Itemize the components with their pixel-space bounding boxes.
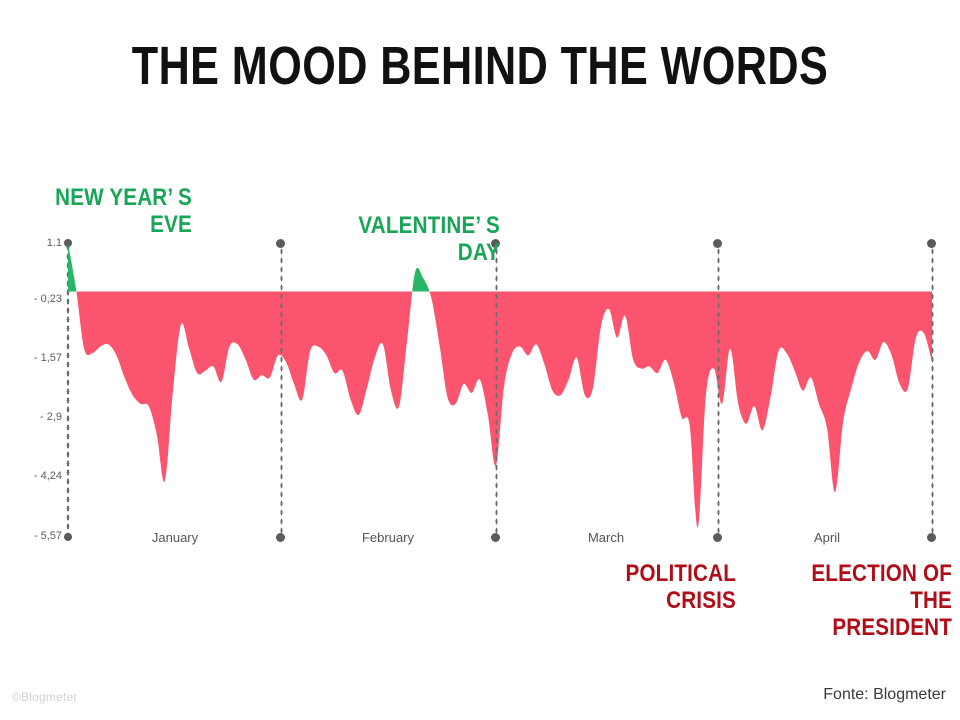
month-divider-end-bottom-dot — [927, 533, 936, 542]
y-tick-label-1: - 0,23 — [6, 293, 62, 305]
sentiment-area-chart — [68, 243, 932, 537]
month-divider-jan-feb — [280, 247, 283, 537]
month-divider-end-top-dot — [927, 239, 936, 248]
month-divider-mar-apr-top-dot — [713, 239, 722, 248]
month-label-april: April — [757, 530, 897, 545]
month-divider-feb-mar-bottom-dot — [491, 533, 500, 542]
y-tick-label-4: - 4,24 — [6, 470, 62, 482]
month-label-january: January — [105, 530, 245, 545]
month-divider-end — [931, 247, 934, 537]
month-label-march: March — [536, 530, 676, 545]
y-tick-label-5: - 5,57 — [6, 530, 62, 542]
month-divider-jan-feb-top-dot — [276, 239, 285, 248]
month-divider-jan-feb-bottom-dot — [276, 533, 285, 542]
source-note: Fonte: Blogmeter — [823, 686, 946, 704]
y-axis: 1.1 - 0,23 - 1,57 - 2,9 - 4,24 - 5,57 — [0, 0, 62, 720]
month-label-february: February — [318, 530, 458, 545]
annotation-election-of-the-president: ELECTION OF THE PRESIDENT — [783, 560, 952, 641]
month-divider-mar-apr-bottom-dot — [713, 533, 722, 542]
annotation-political-crisis: POLITICAL CRISIS — [581, 560, 736, 614]
annotation-valentines-day: VALENTINE’ S DAY — [337, 212, 500, 266]
month-divider-feb-mar — [495, 247, 498, 537]
watermark-blogmeter: ©Blogmeter — [12, 690, 78, 704]
annotation-new-years-eve: NEW YEAR’ S EVE — [37, 184, 192, 238]
y-tick-label-2: - 1,57 — [6, 352, 62, 364]
negative-area-group — [68, 243, 932, 528]
negative-area-path — [68, 243, 932, 528]
y-tick-label-3: - 2,9 — [6, 411, 62, 423]
month-divider-mar-apr — [717, 247, 720, 537]
y-tick-label-0: 1.1 — [6, 237, 62, 249]
